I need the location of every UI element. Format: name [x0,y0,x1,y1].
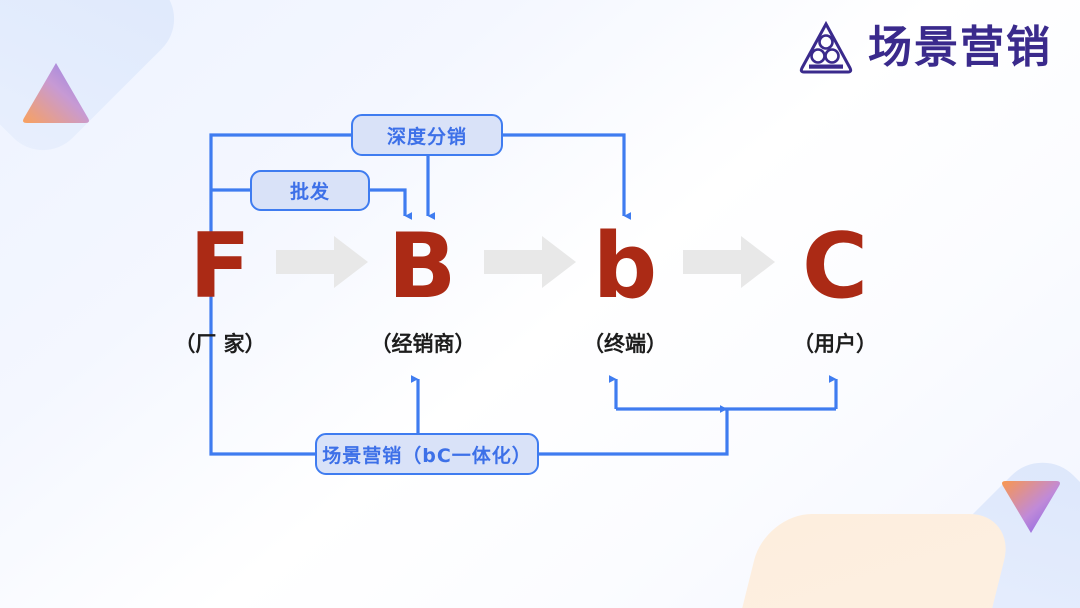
box-wholesale[interactable]: 批发 [250,170,370,211]
chain-letter-b: B [372,222,472,312]
chain-letter-f: F [170,222,270,312]
connector-scene-to-bc-rail [539,409,727,454]
chain-arrow-b-c [683,236,775,288]
chain-letter-small-b: b [575,222,675,312]
box-scene-marketing[interactable]: 场景营销（bC一体化） [315,433,539,475]
chain-letter-c: C [785,222,885,312]
connector-deep-to-small-b [503,135,624,216]
chain-label-small-b: （终端） [555,328,695,358]
connector-f-to-scene [211,372,315,454]
chain-arrow-f-b [276,236,368,288]
box-deep-distribution[interactable]: 深度分销 [351,114,503,156]
connector-wholesale-to-b [370,190,405,216]
flow-connectors [0,0,1080,608]
chain-label-f: （厂 家） [150,328,290,358]
chain-label-c: （用户） [765,328,905,358]
chain-arrow-b-b [484,236,576,288]
slide-canvas: 场景营销 [0,0,1080,608]
chain-label-b: （经销商） [350,328,496,358]
